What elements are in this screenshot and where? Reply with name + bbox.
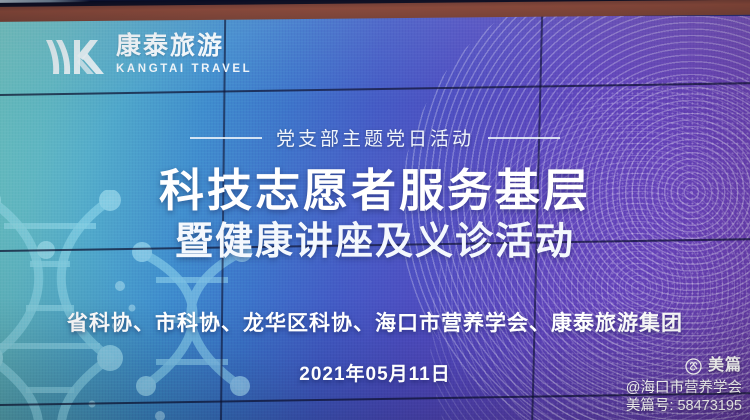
kangtai-logo: 康泰旅游 KANGTAI TRAVEL [44,34,252,76]
logo-wordmark: 康泰旅游 KANGTAI TRAVEL [116,34,252,76]
slide-organizers: 省科协、市科协、龙华区科协、海口市营养学会、康泰旅游集团 [0,307,750,337]
watermark-brand: 美篇 [626,356,742,376]
logo-name-en: KANGTAI TRAVEL [116,64,252,76]
watermark-brand-name: 美篇 [708,356,742,376]
meipian-watermark: 美篇 @海口市营养学会 美篇号: 58473195 [626,356,742,416]
rule-left [190,137,262,139]
watermark-id: 美篇号: 58473195 [626,397,742,416]
eyebrow-text: 党支部主题党日活动 [276,124,474,151]
slide-title-line-2: 暨健康讲座及义诊活动 [0,222,750,264]
logo-name-cn: 康泰旅游 [116,34,252,59]
rule-right [488,137,560,139]
slide-content: 党支部主题党日活动 科技志愿者服务基层 暨健康讲座及义诊活动 省科协、市科协、龙… [0,124,750,386]
slide-title-line-1: 科技志愿者服务基层 [0,167,750,216]
bezel-shadow-line [0,0,750,7]
kangtai-k-monogram-icon [44,34,106,76]
slide-eyebrow: 党支部主题党日活动 [0,124,750,151]
screenshot-root: 康泰旅游 KANGTAI TRAVEL 党支部主题党日活动 科技志愿者服务基层 … [0,0,750,420]
watermark-account: @海口市营养学会 [626,379,742,398]
meipian-logo-icon [685,358,702,375]
